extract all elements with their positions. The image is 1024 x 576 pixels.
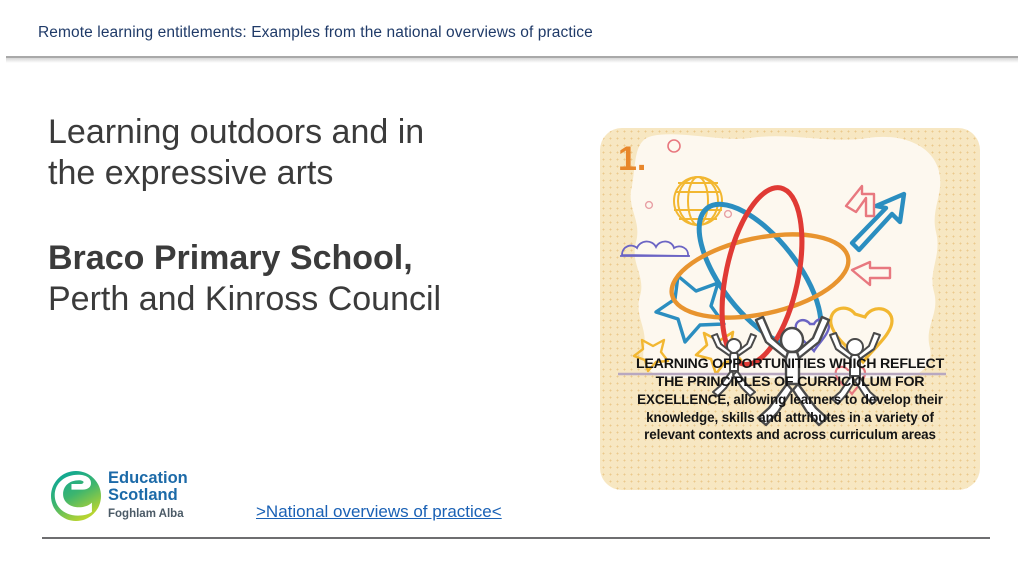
caption-line-1: LEARNING OPPORTUNITIES WHICH REFLECT <box>610 356 970 374</box>
footer-divider <box>42 537 990 539</box>
slide-header: Remote learning entitlements: Examples f… <box>0 0 1024 57</box>
header-divider-shadow <box>6 58 1018 63</box>
heading-line-1: Learning outdoors and in <box>48 112 548 153</box>
illustration-caption: LEARNING OPPORTUNITIES WHICH REFLECT THE… <box>610 356 970 444</box>
header-title: Remote learning entitlements: Examples f… <box>38 24 593 42</box>
education-scotland-logo-text: Education Scotland Foghlam Alba <box>108 470 188 522</box>
logo-line-1: Education <box>108 470 188 487</box>
school-name: Braco Primary School, <box>48 238 548 279</box>
slide-title-block: Learning outdoors and in the expressive … <box>48 112 548 320</box>
caption-line-4: knowledge, skills and attributes in a va… <box>610 409 970 427</box>
council-name: Perth and Kinross Council <box>48 279 548 320</box>
logo-line-2: Scotland <box>108 487 188 504</box>
education-scotland-logo-mark <box>50 470 102 522</box>
title-spacer <box>48 194 548 238</box>
heading-line-2: the expressive arts <box>48 153 548 194</box>
national-overviews-of-practice-link[interactable]: >National overviews of practice< <box>256 502 502 521</box>
caption-line-5: relevant contexts and across curriculum … <box>610 426 970 444</box>
education-scotland-logo: Education Scotland Foghlam Alba <box>50 468 210 526</box>
practice-link-wrap: >National overviews of practice< <box>256 502 502 522</box>
caption-line-2: THE PRINCIPLES OF CURRICULUM FOR <box>610 374 970 392</box>
logo-line-3: Foghlam Alba <box>108 506 188 522</box>
illustration-card: 1. <box>600 128 980 490</box>
step-number-text: 1. <box>618 140 646 178</box>
caption-line-3: EXCELLENCE, allowing learners to develop… <box>610 391 970 409</box>
